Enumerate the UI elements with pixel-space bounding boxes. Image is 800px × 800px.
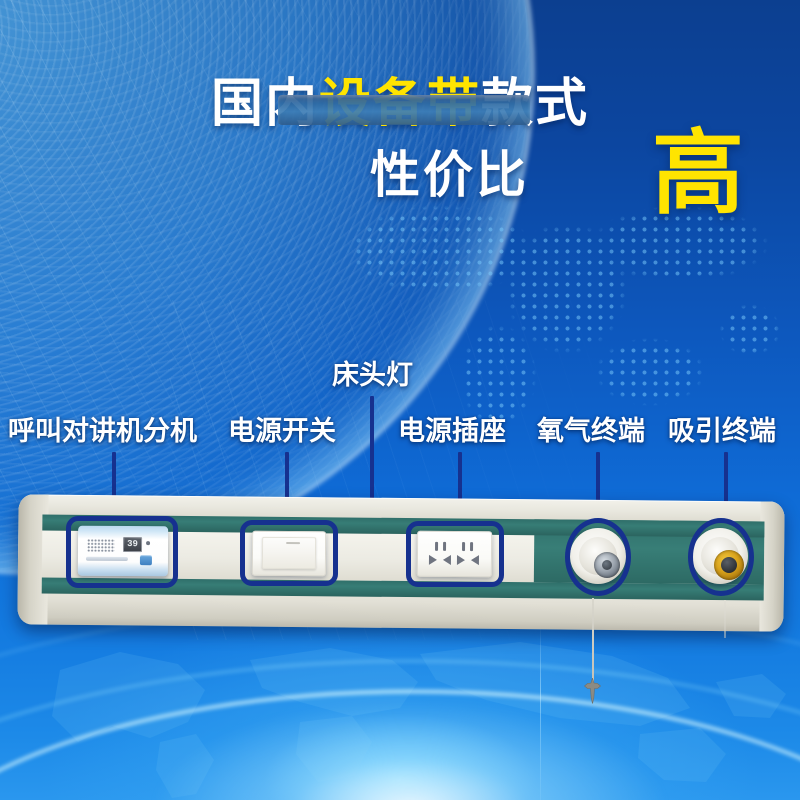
callout-label-oxygen: 氧气终端 (537, 418, 645, 445)
pull-cord-secondary (724, 600, 726, 638)
callout-label-bedlamp: 床头灯 (332, 362, 413, 389)
callout-label-intercom: 呼叫对讲机分机 (8, 418, 197, 445)
callout-label-suction: 吸引终端 (668, 418, 776, 445)
bedside-lamp-diffuser[interactable] (278, 95, 530, 125)
highlight-frame-suction (688, 518, 754, 596)
pull-cord (592, 598, 594, 688)
highlight-frame-switch (240, 520, 338, 586)
pull-switch-icon[interactable] (584, 678, 601, 704)
highlight-frame-oxygen (565, 518, 631, 596)
promo-banner: 国内设备带款式 性价比 高 呼叫对讲机分机 电源开关 床头灯 电源插座 氧气终端… (0, 0, 800, 800)
callout-label-switch: 电源开关 (228, 418, 336, 445)
callout-label-socket: 电源插座 (398, 418, 506, 445)
highlight-frame-socket (406, 521, 504, 587)
highlight-frame-intercom (66, 516, 178, 588)
